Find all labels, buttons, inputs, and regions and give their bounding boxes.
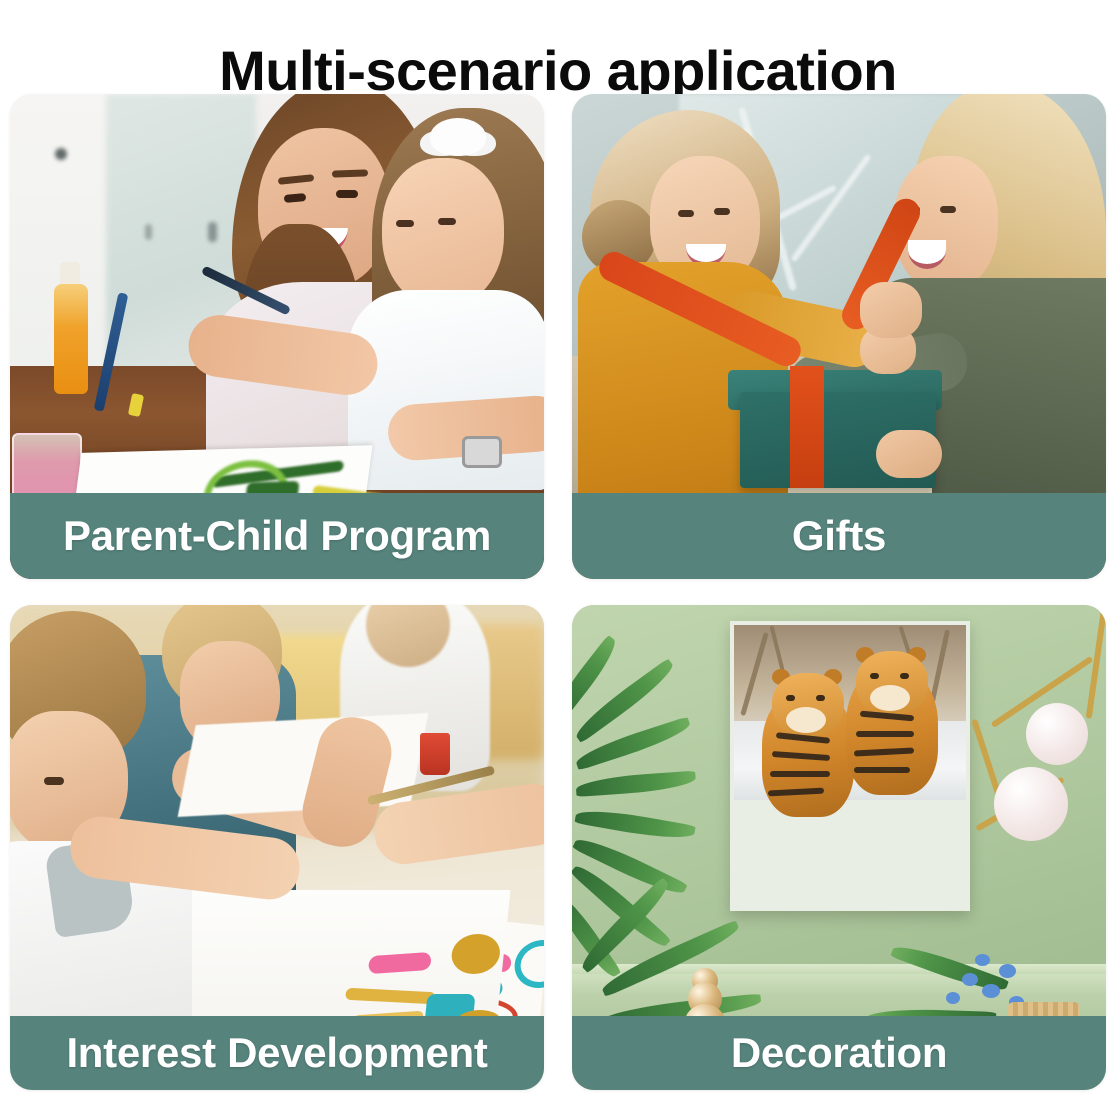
ball-lamp-upper bbox=[1026, 703, 1088, 765]
scenario-card-parent-child-program[interactable]: Parent-Child Program bbox=[10, 94, 544, 579]
framed-tiger-artwork bbox=[730, 621, 970, 911]
scenario-card-grid: Parent-Child Program bbox=[10, 94, 1106, 1090]
caption-bar-gifts: Gifts bbox=[572, 493, 1106, 579]
caption-bar-interest-development: Interest Development bbox=[10, 1016, 544, 1090]
ball-lamp-lower bbox=[994, 767, 1068, 841]
caption-label-interest-development: Interest Development bbox=[10, 1031, 544, 1075]
scenario-card-decoration[interactable]: Decoration bbox=[572, 605, 1106, 1090]
caption-label-decoration: Decoration bbox=[572, 1031, 1106, 1075]
caption-bar-decoration: Decoration bbox=[572, 1016, 1106, 1090]
scenario-card-gifts[interactable]: Gifts bbox=[572, 94, 1106, 579]
multi-scenario-application-page: Multi-scenario application bbox=[0, 0, 1116, 1102]
caption-bar-parent-child-program: Parent-Child Program bbox=[10, 493, 544, 579]
caption-label-parent-child-program: Parent-Child Program bbox=[10, 514, 544, 558]
caption-label-gifts: Gifts bbox=[572, 514, 1106, 558]
scenario-card-interest-development[interactable]: Interest Development bbox=[10, 605, 544, 1090]
